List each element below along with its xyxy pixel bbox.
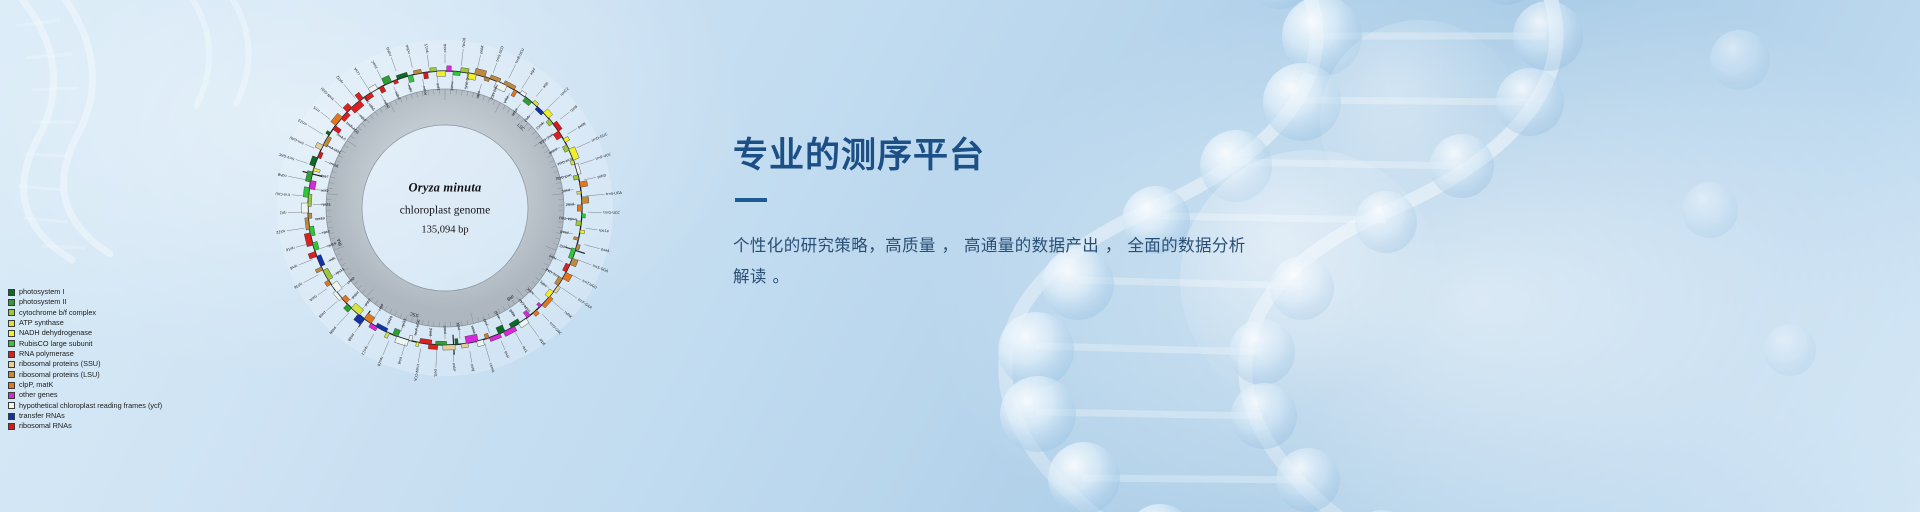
- legend-swatch-rna-polymerase: [8, 351, 15, 358]
- legend-label: other genes: [19, 390, 58, 400]
- legend-item: ATP synthase: [8, 318, 162, 328]
- legend-item: other genes: [8, 390, 162, 400]
- legend-swatch-ribosomal-rnas: [8, 423, 15, 430]
- legend-label: ribosomal proteins (LSU): [19, 370, 100, 380]
- svg-text:rps19: rps19: [315, 216, 325, 221]
- svg-text:trnG-UCC: trnG-UCC: [603, 211, 620, 215]
- legend-label: photosystem I: [19, 287, 64, 297]
- legend-swatch-ribosomal-ssu: [8, 361, 15, 368]
- legend-label: cytochrome b/f complex: [19, 308, 96, 318]
- legend-item: ribosomal proteins (SSU): [8, 359, 162, 369]
- legend-label: NADH dehydrogenase: [19, 328, 92, 338]
- hero-subtitle: 个性化的研究策略，高质量 ， 高通量的数据产出 ， 全面的数据分析解读 。: [733, 230, 1253, 292]
- legend-item: photosystem I: [8, 287, 162, 297]
- svg-text:psbE: psbE: [443, 326, 447, 334]
- svg-text:petL: petL: [433, 369, 437, 377]
- svg-text:psbA: psbA: [443, 43, 447, 52]
- legend-item: ribosomal RNAs: [8, 421, 162, 431]
- title-divider: [735, 198, 767, 202]
- legend-label: ribosomal proteins (SSU): [19, 359, 101, 369]
- svg-text:trnS-UGA: trnS-UGA: [606, 191, 623, 196]
- svg-text:rpl22: rpl22: [276, 229, 286, 234]
- glow-orb: [1320, 20, 1520, 220]
- legend-swatch-rubisco: [8, 340, 15, 347]
- legend-item: transfer RNAs: [8, 411, 162, 421]
- legend-swatch-clpp-matk: [8, 382, 15, 389]
- svg-text:ycf1: ycf1: [436, 83, 440, 91]
- legend-item: NADH dehydrogenase: [8, 328, 162, 338]
- svg-text:rpl2: rpl2: [280, 211, 287, 215]
- legend-swatch-ribosomal-lsu: [8, 371, 15, 378]
- legend-label: RNA polymerase: [19, 349, 74, 359]
- genome-legend: photosystem I photosystem II cytochrome …: [8, 287, 162, 432]
- hero-copy: 专业的测序平台 个性化的研究策略，高质量 ， 高通量的数据产出 ， 全面的数据分…: [733, 136, 1293, 292]
- legend-swatch-transfer-rnas: [8, 413, 15, 420]
- svg-text:psbZ: psbZ: [565, 202, 574, 206]
- svg-text:matK: matK: [450, 81, 455, 91]
- legend-swatch-ycf: [8, 402, 15, 409]
- legend-swatch-cytochrome-bf: [8, 309, 15, 316]
- legend-label: photosystem II: [19, 297, 66, 307]
- legend-label: ATP synthase: [19, 318, 64, 328]
- legend-label: clpP, matK: [19, 380, 53, 390]
- legend-label: ribosomal RNAs: [19, 421, 72, 431]
- legend-item: photosystem II: [8, 297, 162, 307]
- legend-item: RubisCO large subunit: [8, 339, 162, 349]
- legend-swatch-photosystem-ii: [8, 299, 15, 306]
- hero-banner: psbAmatKrps16trnQ-UUGpsbKpsbItrnS-GCUtrn…: [0, 0, 1920, 512]
- legend-label: transfer RNAs: [19, 411, 65, 421]
- legend-swatch-nadh-dehydrogenase: [8, 330, 15, 337]
- legend-label: hypothetical chloroplast reading frames …: [19, 401, 162, 411]
- page-title: 专业的测序平台: [733, 136, 1293, 176]
- svg-text:rpl23: rpl23: [321, 202, 330, 206]
- chloroplast-genome-map: psbAmatKrps16trnQ-UUGpsbKpsbItrnS-GCUtrn…: [245, 8, 645, 408]
- svg-text:psbF: psbF: [452, 363, 456, 371]
- legend-swatch-photosystem-i: [8, 289, 15, 296]
- legend-item: ribosomal proteins (LSU): [8, 370, 162, 380]
- legend-item: clpP, matK: [8, 380, 162, 390]
- legend-label: RubisCO large subunit: [19, 339, 92, 349]
- legend-swatch-atp-synthase: [8, 320, 15, 327]
- legend-item: cytochrome b/f complex: [8, 308, 162, 318]
- legend-item: hypothetical chloroplast reading frames …: [8, 401, 162, 411]
- legend-item: RNA polymerase: [8, 349, 162, 359]
- legend-swatch-other-genes: [8, 392, 15, 399]
